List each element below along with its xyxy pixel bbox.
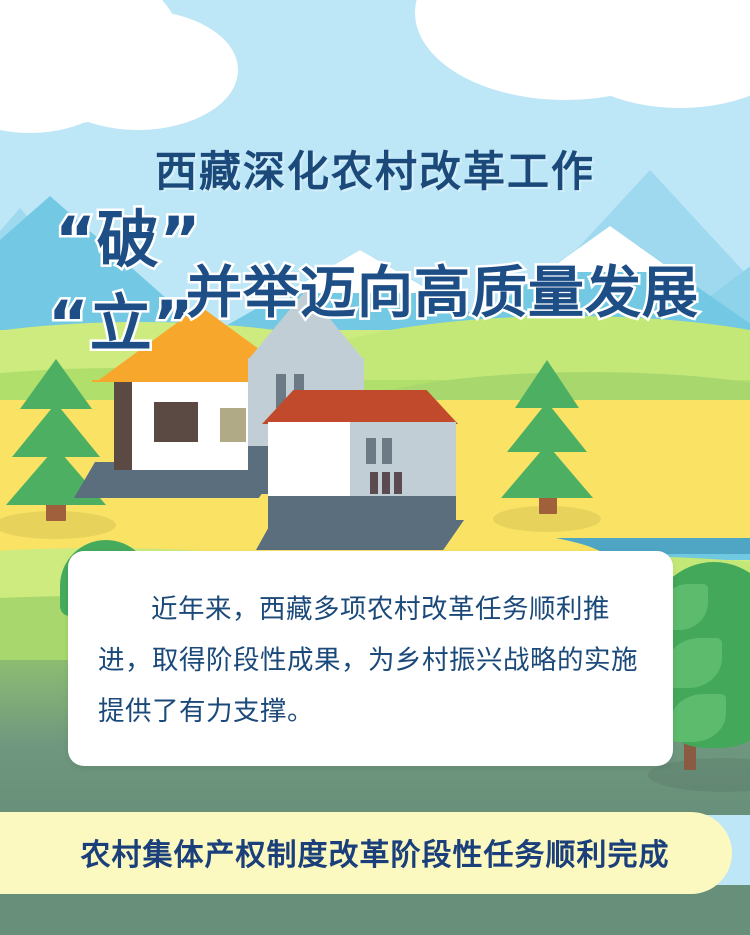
tree-foliage bbox=[515, 360, 579, 408]
house-window bbox=[154, 402, 198, 442]
house-window bbox=[394, 472, 402, 494]
bottom-banner-text: 农村集体产权制度改革阶段性任务顺利完成 bbox=[0, 830, 750, 874]
body-text-card: 近年来，西藏多项农村改革任务顺利推进，取得阶段性成果，为乡村振兴战略的实施提供了… bbox=[68, 551, 673, 766]
subtitle-word-break: “破” bbox=[55, 189, 202, 279]
house-wall-side bbox=[114, 382, 132, 470]
tree-foliage bbox=[12, 403, 100, 457]
tree-foliage bbox=[20, 359, 92, 409]
subtitle-word-establish: “立” bbox=[48, 273, 195, 363]
subtitle-rest: 并举迈向高质量发展 bbox=[186, 248, 699, 329]
body-paragraph: 近年来，西藏多项农村改革任务顺利推进，取得阶段性成果，为乡村振兴战略的实施提供了… bbox=[68, 551, 673, 738]
house-window bbox=[220, 408, 246, 442]
house-red-roof bbox=[262, 368, 522, 558]
house-window bbox=[382, 438, 392, 464]
infographic-poster: 西藏深化农村改革工作 “破” “立” 并举迈向高质量发展 近年来，西藏多项农村改… bbox=[0, 0, 750, 935]
house-window bbox=[366, 438, 376, 464]
house-window bbox=[382, 472, 390, 494]
house-roof bbox=[262, 390, 458, 424]
house-window bbox=[370, 472, 378, 494]
house-foundation bbox=[268, 496, 456, 530]
